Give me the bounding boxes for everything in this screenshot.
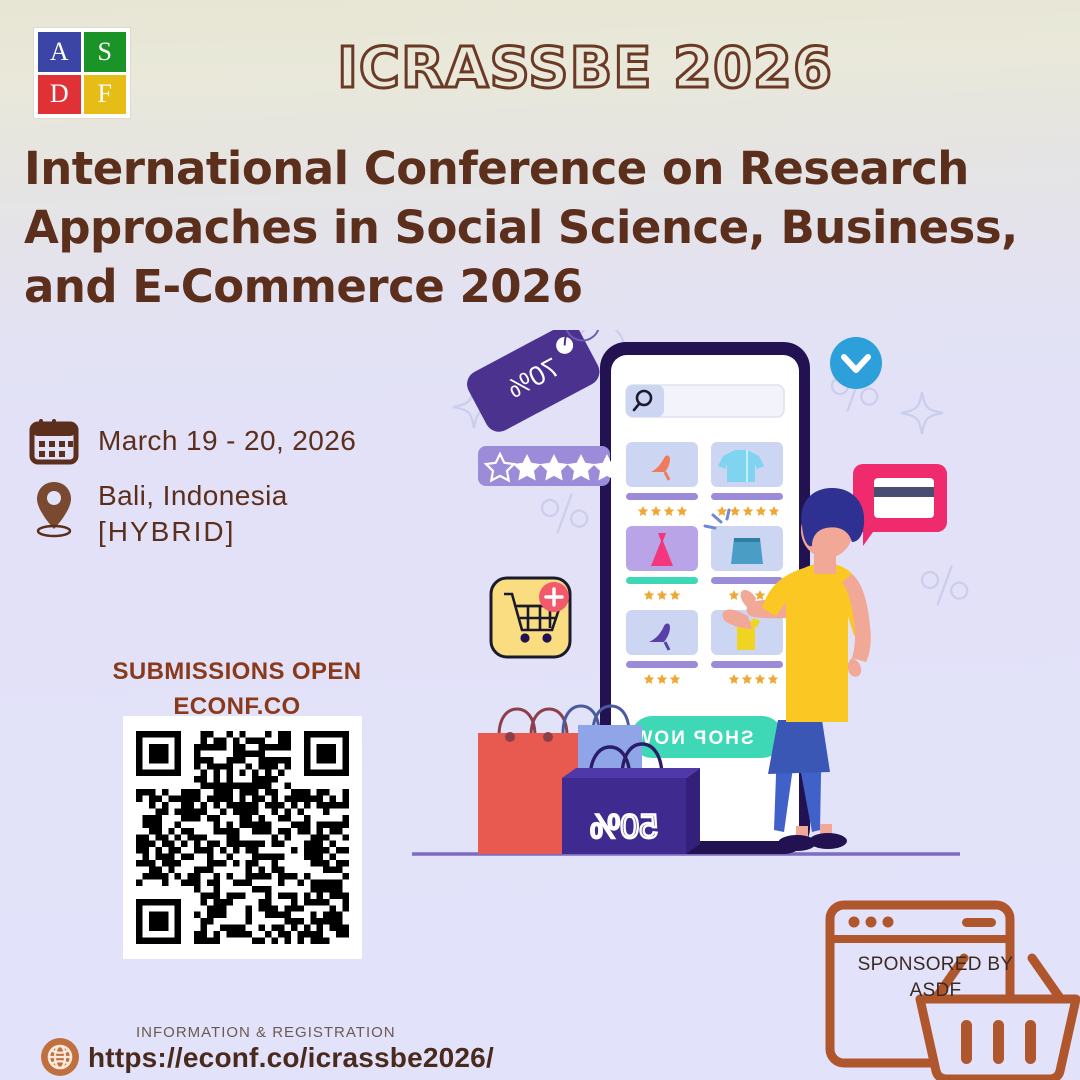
sponsor-line-1: SPONSORED BY	[838, 952, 1033, 978]
location-city: Bali, Indonesia	[98, 480, 288, 511]
qr-code-container[interactable]	[123, 716, 362, 959]
location-mode: [HYBRID]	[98, 514, 288, 550]
logo-tile-a: A	[38, 32, 81, 72]
logo-tile-d: D	[38, 75, 81, 115]
logo-tile-f: F	[84, 75, 127, 115]
logo-tile-s: S	[84, 32, 127, 72]
percent-decor-icon	[919, 560, 969, 610]
cart-wheel	[542, 633, 551, 642]
submissions-callout: SUBMISSIONS OPEN ECONF.CO	[62, 655, 412, 725]
sponsor-text: SPONSORED BY ASDF	[838, 952, 1033, 1003]
asdf-logo: A S D F	[34, 28, 130, 118]
percent-decor-icon	[539, 488, 589, 538]
event-location-text: Bali, Indonesia [HYBRID]	[98, 478, 288, 551]
poster-canvas: A S D F ICRASSBE 2026 International Conf…	[0, 0, 1080, 1080]
chevron-badge[interactable]	[830, 337, 882, 389]
map-pin-icon	[30, 478, 78, 540]
cart-wheel	[520, 633, 529, 642]
footer-label: INFORMATION & REGISTRATION	[136, 1024, 396, 1041]
globe-icon	[40, 1037, 80, 1077]
search-bar[interactable]	[626, 385, 784, 417]
plus-badge-icon	[539, 582, 569, 612]
bag-discount-label: 50%	[590, 808, 658, 846]
qr-code[interactable]	[136, 729, 349, 946]
page-title: International Conference on Research App…	[24, 140, 1059, 317]
price-tag-70: 70%	[458, 330, 625, 437]
person-shoe	[809, 833, 847, 849]
event-location-row: Bali, Indonesia [HYBRID]	[30, 478, 288, 551]
calendar-icon	[28, 415, 80, 467]
star-outline-icon	[901, 392, 943, 434]
sponsor-line-2: ASDF	[838, 978, 1033, 1004]
credit-card-icon	[874, 478, 934, 518]
event-date-row: March 19 - 20, 2026	[28, 415, 356, 467]
submissions-line-1: SUBMISSIONS OPEN	[62, 655, 412, 690]
rating-badge	[478, 446, 621, 486]
footer-url[interactable]: https://econf.co/icrassbe2026/	[88, 1042, 494, 1074]
event-date-text: March 19 - 20, 2026	[98, 423, 356, 459]
credit-card-bubble	[853, 464, 947, 546]
event-acronym: ICRASSBE 2026	[325, 36, 845, 101]
add-to-cart-button[interactable]	[491, 578, 570, 657]
ecommerce-illustration: SHOP NOW 70%	[400, 330, 1000, 875]
